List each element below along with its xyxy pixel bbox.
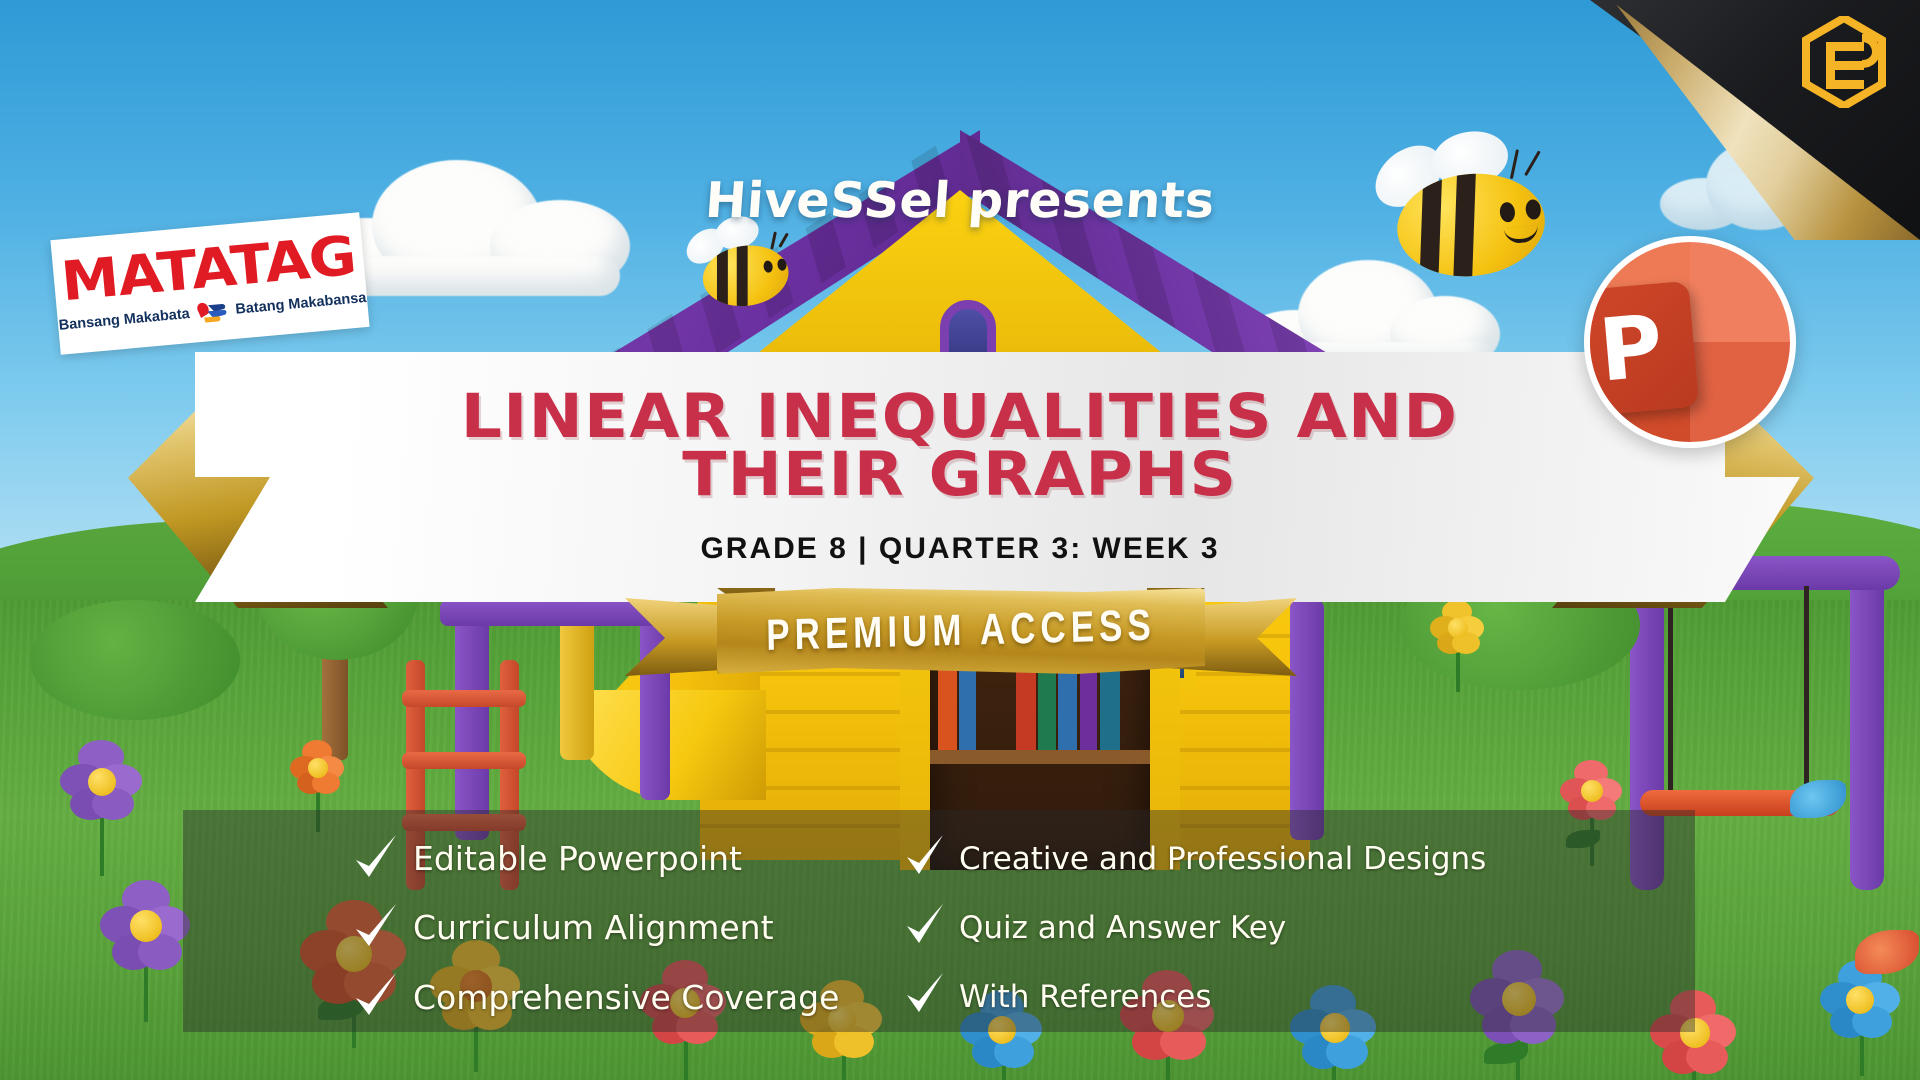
feature-label: Comprehensive Coverage xyxy=(413,978,839,1017)
ladder-rung-1 xyxy=(402,690,526,707)
features-overlay-panel: Editable Powerpoint Curriculum Alignment… xyxy=(183,810,1695,1032)
feature-item: Editable Powerpoint xyxy=(353,833,893,885)
hexagon-hive-logo-icon xyxy=(1802,16,1886,108)
feature-label: Quiz and Answer Key xyxy=(959,910,1286,946)
powerpoint-icon: P xyxy=(1584,236,1796,448)
feature-label: With References xyxy=(959,979,1212,1015)
feature-label: Editable Powerpoint xyxy=(413,839,742,878)
matatag-hands-icon xyxy=(193,297,231,326)
bee-left xyxy=(687,221,802,321)
lesson-title-line1: LINEAR INEQUALITIES AND xyxy=(461,388,1459,446)
shrub-left xyxy=(30,600,240,720)
features-grid: Editable Powerpoint Curriculum Alignment… xyxy=(183,810,1695,1032)
lesson-subtitle: GRADE 8 | QUARTER 3: WEEK 3 xyxy=(700,532,1219,566)
check-icon xyxy=(353,902,399,954)
check-icon xyxy=(905,833,945,885)
check-icon xyxy=(905,902,945,954)
check-icon xyxy=(905,971,945,1023)
feature-label: Creative and Professional Designs xyxy=(959,841,1486,877)
ribbon-label: PREMIUM ACCESS xyxy=(716,571,1206,691)
powerpoint-letter: P xyxy=(1584,281,1699,418)
lesson-title-line2: THEIR GRAPHS xyxy=(682,446,1237,504)
feature-label: Curriculum Alignment xyxy=(413,908,774,947)
poster-canvas: HiveSSel presents MATATAG Bansang Makaba… xyxy=(0,0,1920,1080)
feature-item: Comprehensive Coverage xyxy=(353,971,893,1023)
swing-rope-right xyxy=(1804,586,1809,796)
premium-access-ribbon: PREMIUM ACCESS xyxy=(625,588,1297,684)
swing-rope-left xyxy=(1668,586,1673,796)
platform-post-1 xyxy=(455,600,489,840)
check-icon xyxy=(353,833,399,885)
feature-item: Quiz and Answer Key xyxy=(905,902,1695,954)
feature-item: Creative and Professional Designs xyxy=(905,833,1695,885)
feature-item: Curriculum Alignment xyxy=(353,902,893,954)
page-curl-corner xyxy=(1590,0,1920,240)
feature-item: With References xyxy=(905,971,1695,1023)
ladder-rung-2 xyxy=(402,752,526,769)
check-icon xyxy=(353,971,399,1023)
swing-post-right xyxy=(1850,570,1884,890)
